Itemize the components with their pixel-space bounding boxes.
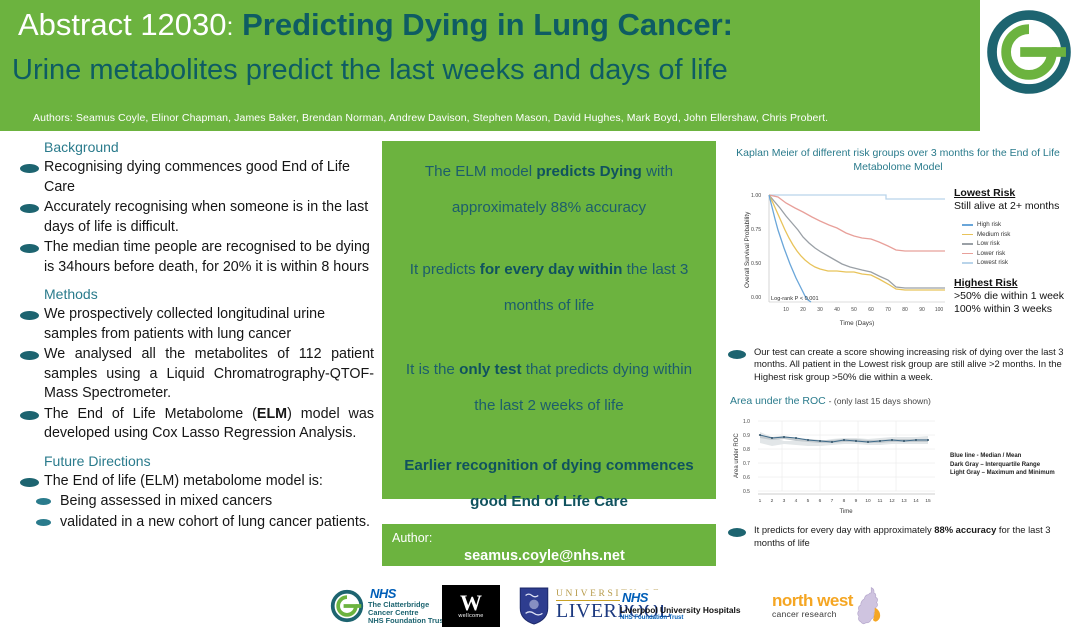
roc-note-emphasis: 88% accuracy (934, 524, 996, 535)
legend-swatch-icon (962, 253, 973, 255)
roc-figure: Area under ROC 1.00.90.8 0.70.60.5 (722, 410, 1074, 518)
svg-text:10: 10 (783, 307, 789, 313)
svg-text:Area under ROC: Area under ROC (734, 433, 740, 478)
list-item: We prospectively collected longitudinal … (14, 305, 374, 344)
lowest-risk-text: Still alive at 2+ months (954, 200, 1074, 213)
legend-item-lowest-risk: Lowest risk (962, 258, 1074, 268)
svg-text:80: 80 (902, 307, 908, 313)
key-finding-2-pre: It predicts (410, 261, 480, 278)
left-column: Background Recognising dying commences g… (14, 138, 374, 533)
svg-text:0.50: 0.50 (751, 261, 761, 267)
list-item: The End of life (ELM) metabolome model i… (14, 472, 374, 492)
bullet-dot-icon (20, 351, 39, 360)
list-item: The End of Life Metabolome (ELM) model w… (14, 405, 374, 444)
lowest-risk-heading: Lowest Risk (954, 186, 1074, 200)
list-item-text: Recognising dying commences good End of … (44, 158, 374, 197)
kaplan-meier-figure: Overall Survival Probability 1.00 0.75 0… (722, 180, 1074, 340)
key-finding-1-pre: The ELM model (425, 163, 536, 180)
nwcr-line1: north west (772, 593, 853, 609)
roc-note-text: It predicts for every day with approxima… (754, 524, 1074, 549)
bullet-dot-icon (20, 204, 39, 213)
luh-name: Liverpool University Hospitals (620, 605, 741, 615)
svg-text:15: 15 (925, 498, 931, 504)
svg-text:2: 2 (771, 498, 774, 504)
legend-item-high-risk: High risk (962, 220, 1074, 230)
key-finding-1: The ELM model predicts Dying with approx… (382, 141, 716, 226)
key-finding-4: Earlier recognition of dying commences g… (382, 424, 716, 520)
highest-risk-text-1: >50% die within 1 week (954, 290, 1074, 303)
legend-swatch-icon (962, 224, 973, 226)
nhs-wordmark: NHS (620, 590, 741, 605)
right-column: Kaplan Meier of different risk groups ov… (722, 146, 1074, 549)
wellcome-mark-icon: W wellcome (442, 585, 500, 627)
author-email[interactable]: seamus.coyle@nhs.net (464, 548, 625, 564)
poster-root: Abstract 12030: Predicting Dying in Lung… (0, 0, 1080, 629)
svg-text:9: 9 (855, 498, 858, 504)
svg-text:100: 100 (935, 307, 944, 313)
svg-text:50: 50 (851, 307, 857, 313)
author-list: Authors: Seamus Coyle, Elinor Chapman, J… (33, 112, 828, 124)
uk-map-icon (855, 585, 891, 627)
nhs-wordmark: NHS (368, 586, 446, 601)
key-finding-3: It is the only test that predicts dying … (382, 324, 716, 424)
svg-text:30: 30 (817, 307, 823, 313)
svg-text:20: 20 (800, 307, 806, 313)
svg-text:1.0: 1.0 (743, 419, 750, 425)
bullet-dot-icon (20, 244, 39, 253)
bullet-dot-icon (20, 411, 39, 420)
wellcome-w-glyph: W (460, 593, 482, 613)
roc-legend-item-iqr: Dark Gray – Interquartile Range (950, 461, 1055, 469)
bullet-dot-icon (36, 498, 51, 505)
list-item: We analysed all the metabolites of 112 p… (14, 345, 374, 404)
list-item: The median time people are recognised to… (14, 238, 374, 277)
north-west-cancer-research-logo: north west cancer research (772, 582, 891, 629)
svg-text:0.7: 0.7 (743, 461, 750, 467)
author-label: Author: (392, 531, 432, 545)
roc-note: It predicts for every day with approxima… (722, 524, 1074, 549)
key-finding-2-emphasis: for every day within (480, 261, 623, 278)
svg-text:Log-rank P < 0.001: Log-rank P < 0.001 (771, 296, 819, 302)
svg-text:0.00: 0.00 (751, 295, 761, 301)
svg-text:70: 70 (885, 307, 891, 313)
svg-text:10: 10 (865, 498, 871, 504)
kaplan-meier-chart: Overall Survival Probability 1.00 0.75 0… (740, 180, 950, 338)
svg-text:0.8: 0.8 (743, 447, 750, 453)
svg-text:8: 8 (843, 498, 846, 504)
roc-note-pre: It predicts for every day with approxima… (754, 524, 934, 535)
list-item-text: validated in a new cohort of lung cancer… (60, 513, 374, 533)
svg-text:0.5: 0.5 (743, 489, 750, 495)
svg-text:90: 90 (919, 307, 925, 313)
nwcr-line2: cancer research (772, 609, 853, 619)
list-item-text: We prospectively collected longitudinal … (44, 305, 374, 344)
km-legend: High risk Medium risk Low risk Lower ris… (962, 220, 1074, 268)
key-finding-2: It predicts for every day within the las… (382, 226, 716, 324)
km-note: Our test can create a score showing incr… (722, 346, 1074, 383)
clatterbridge-mark-icon (330, 589, 364, 623)
highest-risk-heading: Highest Risk (954, 276, 1074, 290)
km-side-annotations: Lowest Risk Still alive at 2+ months Hig… (954, 186, 1074, 316)
clatterbridge-trust-line: NHS Foundation Trust (368, 617, 446, 625)
bullet-dot-icon (20, 164, 39, 173)
footer-logos: NHS The Clatterbridge Cancer Centre NHS … (0, 582, 1080, 629)
luh-trust-line: NHS Foundation Trust (620, 615, 741, 621)
legend-item-medium-risk: Medium risk (962, 230, 1074, 240)
list-item: Recognising dying commences good End of … (14, 158, 374, 197)
svg-text:40: 40 (834, 307, 840, 313)
section-heading-methods: Methods (44, 285, 374, 304)
clatterbridge-cancer-centre-logo (985, 8, 1073, 96)
header-title-line: Abstract 12030: Predicting Dying in Lung… (18, 6, 733, 46)
svg-text:4: 4 (795, 498, 798, 504)
svg-text:5: 5 (807, 498, 810, 504)
bullet-dot-icon (728, 350, 746, 359)
legend-swatch-icon (962, 243, 973, 245)
km-note-text: Our test can create a score showing incr… (754, 346, 1074, 383)
kaplan-meier-title: Kaplan Meier of different risk groups ov… (722, 146, 1074, 174)
clatterbridge-logo: NHS The Clatterbridge Cancer Centre NHS … (330, 582, 446, 629)
svg-text:Time (Days): Time (Days) (840, 320, 875, 327)
list-item: Being assessed in mixed cancers (14, 492, 374, 512)
svg-text:Time: Time (839, 509, 853, 515)
svg-text:13: 13 (901, 498, 907, 504)
bullet-dot-icon (20, 478, 39, 487)
svg-text:0.9: 0.9 (743, 433, 750, 439)
highest-risk-text-2: 100% within 3 weeks (954, 303, 1074, 316)
roc-subtitle-text: - (only last 15 days shown) (829, 396, 931, 406)
roc-legend-item-median: Blue line - Median / Mean (950, 452, 1055, 460)
legend-item-low-risk: Low risk (962, 239, 1074, 249)
svg-text:Overall Survival Probability: Overall Survival Probability (744, 211, 751, 288)
key-finding-3-pre: It is the (406, 361, 459, 378)
list-item-text: We analysed all the metabolites of 112 p… (44, 345, 374, 404)
legend-item-lower-risk: Lower risk (962, 249, 1074, 259)
svg-text:11: 11 (878, 498, 883, 504)
key-findings-panel: The ELM model predicts Dying with approx… (382, 141, 716, 499)
legend-swatch-icon (962, 262, 973, 264)
svg-text:14: 14 (913, 498, 919, 504)
svg-text:12: 12 (889, 498, 895, 504)
list-item: validated in a new cohort of lung cancer… (14, 513, 374, 533)
roc-legend: Blue line - Median / Mean Dark Gray – In… (950, 452, 1055, 477)
poster-header: Abstract 12030: Predicting Dying in Lung… (0, 0, 980, 131)
legend-swatch-icon (962, 234, 973, 236)
section-heading-future-directions: Future Directions (44, 452, 374, 471)
wellcome-wordmark: wellcome (458, 613, 483, 619)
svg-text:6: 6 (819, 498, 822, 504)
list-item: Accurately recognising when someone is i… (14, 198, 374, 237)
bullet-dot-icon (728, 528, 746, 537)
list-item-text: The median time people are recognised to… (44, 238, 374, 277)
key-finding-1-emphasis: predicts Dying (536, 163, 642, 180)
roc-title: Area under the ROC - (only last 15 days … (730, 395, 1074, 407)
svg-text:1.00: 1.00 (751, 193, 761, 199)
abstract-number: Abstract 12030 (18, 7, 227, 42)
liverpool-crest-icon (518, 587, 550, 625)
section-heading-background: Background (44, 138, 374, 157)
subtitle: Urine metabolites predict the last weeks… (12, 52, 728, 88)
list-item-text: The End of Life Metabolome (ELM) model w… (44, 405, 374, 444)
svg-text:7: 7 (831, 498, 834, 504)
author-contact-box: Author: seamus.coyle@nhs.net (382, 524, 716, 566)
svg-text:60: 60 (868, 307, 874, 313)
svg-text:0.75: 0.75 (751, 227, 761, 233)
svg-text:0.6: 0.6 (743, 475, 750, 481)
area-under-roc-chart: Area under ROC 1.00.90.8 0.70.60.5 (730, 410, 942, 516)
list-item-text: Accurately recognising when someone is i… (44, 198, 374, 237)
list-item-text: The End of life (ELM) metabolome model i… (44, 472, 374, 492)
key-finding-3-emphasis: only test (459, 361, 521, 378)
svg-text:3: 3 (783, 498, 786, 504)
roc-legend-item-minmax: Light Gray – Maximum and Minimum (950, 469, 1055, 477)
wellcome-logo: W wellcome (442, 582, 500, 629)
main-title: Predicting Dying in Lung Cancer: (242, 7, 733, 42)
bullet-dot-icon (36, 519, 51, 526)
liverpool-university-hospitals-logo: NHS Liverpool University Hospitals NHS F… (620, 582, 741, 629)
roc-title-text: Area under the ROC (730, 395, 826, 407)
bullet-dot-icon (20, 311, 39, 320)
list-item-text: Being assessed in mixed cancers (60, 492, 374, 512)
title-colon: : (227, 13, 234, 41)
svg-text:1: 1 (759, 498, 762, 504)
